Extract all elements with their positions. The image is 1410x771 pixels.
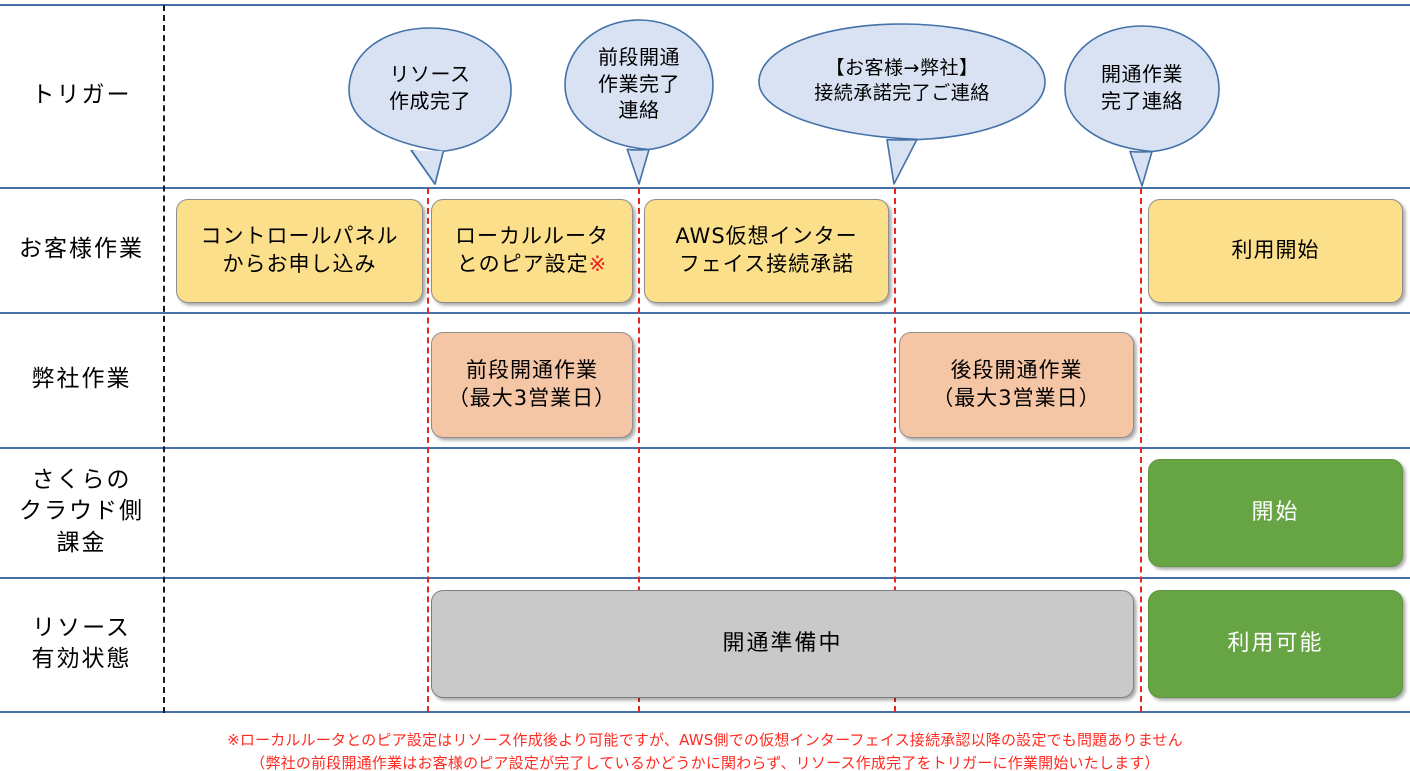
lane-rule-company <box>0 447 1410 449</box>
row-label-billing: さくらの クラウド側 課金 <box>0 447 163 577</box>
lane-rule-bottom <box>0 711 1410 713</box>
resource-state-preparing-label: 開通準備中 <box>722 629 842 658</box>
row-label-company: 弊社作業 <box>0 312 163 447</box>
row-label-resource: リソース 有効状態 <box>0 577 163 711</box>
customer-task-peer-setting-label: ローカルルータ とのピア設定 <box>455 224 609 276</box>
customer-task-application[interactable]: コントロールパネル からお申し込み <box>176 199 423 303</box>
billing-state-start-label: 開始 <box>1251 498 1299 527</box>
resource-state-available-label: 利用可能 <box>1227 629 1323 658</box>
process-flow-diagram: トリガー お客様作業 弊社作業 さくらの クラウド側 課金 リソース 有効状態 … <box>0 0 1410 771</box>
trigger-balloon-2: 前段開通 作業完了 連絡 <box>563 18 715 188</box>
label-column-divider <box>163 5 165 713</box>
company-task-pre-stage-label: 前段開通作業 （最大3営業日） <box>448 357 616 412</box>
customer-task-application-label: コントロールパネル からお申し込み <box>201 223 399 278</box>
customer-task-peer-setting[interactable]: ローカルルータ とのピア設定※ <box>431 199 633 303</box>
row-label-trigger: トリガー <box>0 4 163 187</box>
trigger-balloon-1: リソース 作成完了 <box>347 26 513 188</box>
trigger-line-1 <box>427 188 429 712</box>
footnote-text: ※ローカルルータとのピア設定はリソース作成後より可能ですが、AWS側での仮想イン… <box>0 729 1410 771</box>
trigger-line-4 <box>1140 188 1142 712</box>
company-task-post-stage-label: 後段開通作業 （最大3営業日） <box>932 357 1100 412</box>
customer-task-vif-approval[interactable]: AWS仮想インター フェイス接続承諾 <box>644 199 889 303</box>
trigger-balloon-4: 開通作業 完了連絡 <box>1063 24 1221 188</box>
customer-task-start-use-label: 利用開始 <box>1232 237 1320 265</box>
lane-rule-top <box>0 4 1410 6</box>
peer-setting-footnote-mark: ※ <box>589 252 608 276</box>
trigger-balloon-3: 【お客様→弊社】 接続承諾完了ご連絡 <box>757 22 1047 188</box>
customer-task-vif-approval-label: AWS仮想インター フェイス接続承諾 <box>675 223 857 278</box>
lane-rule-billing <box>0 577 1410 579</box>
billing-state-start[interactable]: 開始 <box>1148 459 1403 567</box>
resource-state-preparing[interactable]: 開通準備中 <box>431 590 1134 698</box>
lane-rule-customer <box>0 312 1410 314</box>
company-task-post-stage[interactable]: 後段開通作業 （最大3営業日） <box>899 332 1134 438</box>
row-label-customer: お客様作業 <box>0 187 163 312</box>
company-task-pre-stage[interactable]: 前段開通作業 （最大3営業日） <box>431 332 633 438</box>
customer-task-start-use[interactable]: 利用開始 <box>1148 199 1403 303</box>
resource-state-available[interactable]: 利用可能 <box>1148 590 1403 698</box>
